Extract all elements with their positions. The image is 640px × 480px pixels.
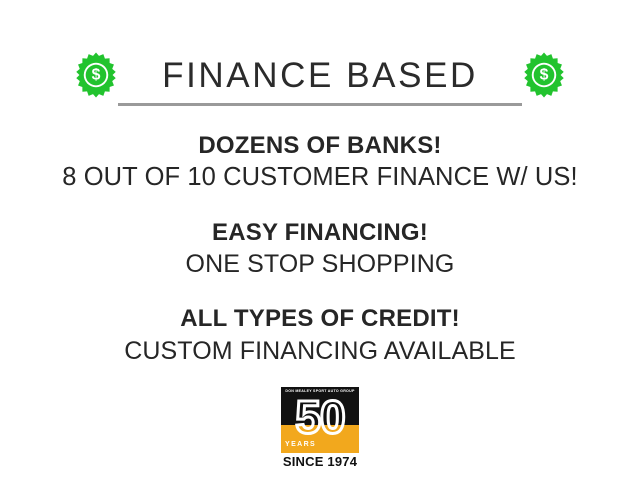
title-divider (118, 103, 522, 106)
header: $ FINANCE BASED $ (0, 46, 640, 104)
logo-since-text: SINCE 1974 (278, 455, 362, 469)
message-heading: EASY FINANCING! (0, 219, 640, 247)
message-subline: ONE STOP SHOPPING (0, 249, 640, 279)
money-gear-icon: $ (72, 51, 120, 99)
message-subline: CUSTOM FINANCING AVAILABLE (0, 336, 640, 366)
logo-badge: DON MEALEY SPORT AUTO GROUP 50 YEARS (281, 387, 359, 453)
page-title-text: FINANCE BASED (162, 58, 478, 93)
message-list: DOZENS OF BANKS! 8 OUT OF 10 CUSTOMER FI… (0, 132, 640, 366)
message-block: ALL TYPES OF CREDIT! CUSTOM FINANCING AV… (0, 305, 640, 365)
message-heading: ALL TYPES OF CREDIT! (0, 305, 640, 333)
finance-based-slide: $ FINANCE BASED $ DOZENS OF BANKS! (0, 0, 640, 480)
page-title: FINANCE BASED (120, 58, 520, 93)
money-gear-icon: $ (520, 51, 568, 99)
message-heading: DOZENS OF BANKS! (0, 132, 640, 160)
dealer-logo: DON MEALEY SPORT AUTO GROUP 50 YEARS SIN… (278, 387, 362, 469)
svg-text:$: $ (92, 67, 101, 84)
logo-anniversary-word: YEARS (285, 441, 316, 448)
message-block: EASY FINANCING! ONE STOP SHOPPING (0, 219, 640, 279)
svg-text:$: $ (540, 67, 549, 84)
message-subline: 8 OUT OF 10 CUSTOMER FINANCE W/ US! (0, 162, 640, 193)
message-block: DOZENS OF BANKS! 8 OUT OF 10 CUSTOMER FI… (0, 132, 640, 193)
logo-anniversary-number: 50 (281, 394, 359, 440)
